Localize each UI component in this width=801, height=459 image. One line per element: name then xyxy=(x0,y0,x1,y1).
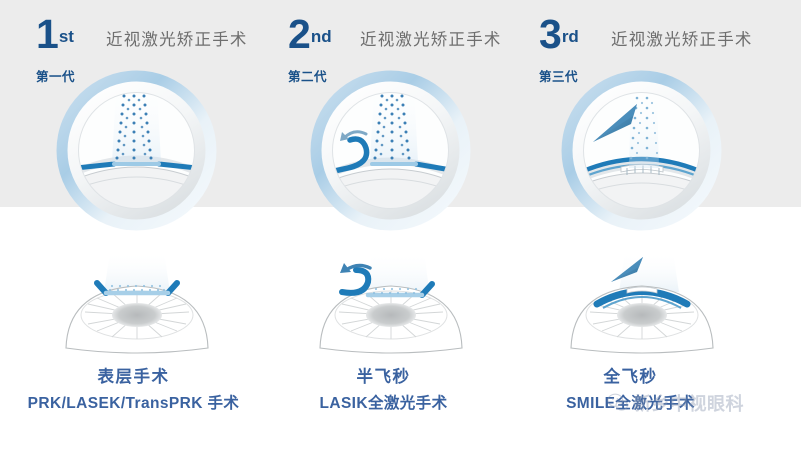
caption-primary-1: 表层手术 xyxy=(0,366,267,388)
caption-block-3: 全飞秒 SMILE全激光手术 xyxy=(497,366,764,414)
ordinal-number-2: 2 xyxy=(288,11,310,57)
column-subtitle-2: 近视激光矫正手术 xyxy=(360,26,502,50)
magnifier-lens-icon-2 xyxy=(308,68,473,233)
ordinal-suffix-3: rd xyxy=(562,27,579,46)
ordinal-label-2: 2nd xyxy=(288,14,332,55)
ordinal-label-3: 3rd xyxy=(539,14,579,55)
ordinal-number-1: 1 xyxy=(36,11,58,57)
ordinal-label-1: 1st xyxy=(36,14,74,55)
ordinal-suffix-2: nd xyxy=(311,27,332,46)
generation-column-2: 2nd 第二代 近视激光矫正手术 xyxy=(250,0,517,459)
caption-secondary-3: SMILE全激光手术 xyxy=(497,394,764,414)
generation-column-1: 1st 第一代 近视激光矫正手术 xyxy=(0,0,267,459)
column-subtitle-3: 近视激光矫正手术 xyxy=(611,26,753,50)
caption-secondary-1: PRK/LASEK/TransPRK 手术 xyxy=(0,394,267,414)
caption-block-1: 表层手术 PRK/LASEK/TransPRK 手术 xyxy=(0,366,267,414)
infographic-canvas: 1st 第一代 近视激光矫正手术 xyxy=(0,0,801,459)
column-subtitle-1: 近视激光矫正手术 xyxy=(106,26,248,50)
generation-column-3: 3rd 第三代 近视激光矫正手术 xyxy=(497,0,764,459)
ordinal-suffix-1: st xyxy=(59,27,74,46)
caption-primary-3: 全飞秒 xyxy=(497,366,764,388)
caption-secondary-2: LASIK全激光手术 xyxy=(250,394,517,414)
eye-cross-section-icon-3 xyxy=(557,252,727,362)
caption-block-2: 半飞秒 LASIK全激光手术 xyxy=(250,366,517,414)
eye-cross-section-icon-2 xyxy=(306,252,476,362)
magnifier-lens-icon-1 xyxy=(54,68,219,233)
eye-cross-section-icon-1 xyxy=(52,252,222,362)
magnifier-lens-icon-3 xyxy=(559,68,724,233)
ordinal-number-3: 3 xyxy=(539,11,561,57)
caption-primary-2: 半飞秒 xyxy=(250,366,517,388)
